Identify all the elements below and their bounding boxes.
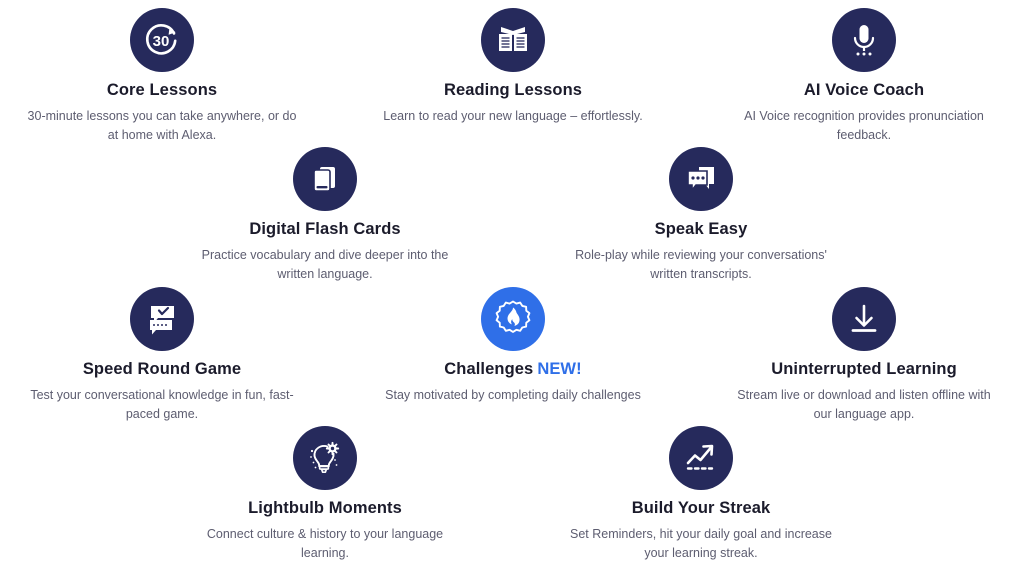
open-book-icon bbox=[481, 8, 545, 72]
chat-bubbles-icon bbox=[669, 147, 733, 211]
feature-description: 30-minute lessons you can take anywhere,… bbox=[12, 107, 312, 146]
feature-description: Stream live or download and listen offli… bbox=[714, 386, 1014, 425]
stacked-cards-icon bbox=[293, 147, 357, 211]
feature-description: Role-play while reviewing your conversat… bbox=[551, 246, 851, 285]
feature-card-speak-easy[interactable]: Speak Easy Role-play while reviewing you… bbox=[551, 147, 851, 285]
flame-badge-icon bbox=[481, 287, 545, 351]
feature-title: Lightbulb Moments bbox=[175, 499, 475, 519]
feature-description: Test your conversational knowledge in fu… bbox=[12, 386, 312, 425]
feature-card-reading-lessons[interactable]: Reading Lessons Learn to read your new l… bbox=[363, 8, 663, 126]
microphone-icon bbox=[832, 8, 896, 72]
thirty-minute-clock-icon: 30 bbox=[130, 8, 194, 72]
feature-title: AI Voice Coach bbox=[714, 81, 1014, 101]
feature-description: AI Voice recognition provides pronunciat… bbox=[714, 107, 1014, 146]
quiz-bubbles-icon bbox=[130, 287, 194, 351]
feature-title: Uninterrupted Learning bbox=[714, 360, 1014, 380]
feature-card-digital-flash-cards[interactable]: Digital Flash Cards Practice vocabulary … bbox=[175, 147, 475, 285]
feature-title: Build Your Streak bbox=[551, 499, 851, 519]
download-icon bbox=[832, 287, 896, 351]
feature-card-uninterrupted-learning[interactable]: Uninterrupted Learning Stream live or do… bbox=[714, 287, 1014, 425]
feature-card-build-your-streak[interactable]: Build Your Streak Set Reminders, hit you… bbox=[551, 426, 851, 564]
feature-description: Learn to read your new language – effort… bbox=[363, 107, 663, 126]
feature-title: Digital Flash Cards bbox=[175, 220, 475, 240]
feature-card-core-lessons[interactable]: 30 Core Lessons 30-minute lessons you ca… bbox=[12, 8, 312, 146]
feature-description: Stay motivated by completing daily chall… bbox=[363, 386, 663, 405]
feature-card-ai-voice-coach[interactable]: AI Voice Coach AI Voice recognition prov… bbox=[714, 8, 1014, 146]
clock-number-label: 30 bbox=[153, 33, 170, 50]
feature-description: Set Reminders, hit your daily goal and i… bbox=[551, 525, 851, 564]
feature-title: Speed Round Game bbox=[12, 360, 312, 380]
lightbulb-gear-icon bbox=[293, 426, 357, 490]
features-grid: 30 Core Lessons 30-minute lessons you ca… bbox=[0, 0, 1024, 561]
feature-title: ChallengesNEW! bbox=[363, 360, 663, 380]
feature-card-lightbulb-moments[interactable]: Lightbulb Moments Connect culture & hist… bbox=[175, 426, 475, 564]
feature-title: Speak Easy bbox=[551, 220, 851, 240]
feature-title: Reading Lessons bbox=[363, 81, 663, 101]
feature-description: Connect culture & history to your langua… bbox=[175, 525, 475, 564]
feature-card-speed-round-game[interactable]: Speed Round Game Test your conversationa… bbox=[12, 287, 312, 425]
feature-title: Core Lessons bbox=[12, 81, 312, 101]
new-badge-label: NEW! bbox=[537, 360, 581, 378]
trending-up-arrow-icon bbox=[669, 426, 733, 490]
feature-description: Practice vocabulary and dive deeper into… bbox=[175, 246, 475, 285]
feature-card-challenges[interactable]: ChallengesNEW! Stay motivated by complet… bbox=[363, 287, 663, 405]
